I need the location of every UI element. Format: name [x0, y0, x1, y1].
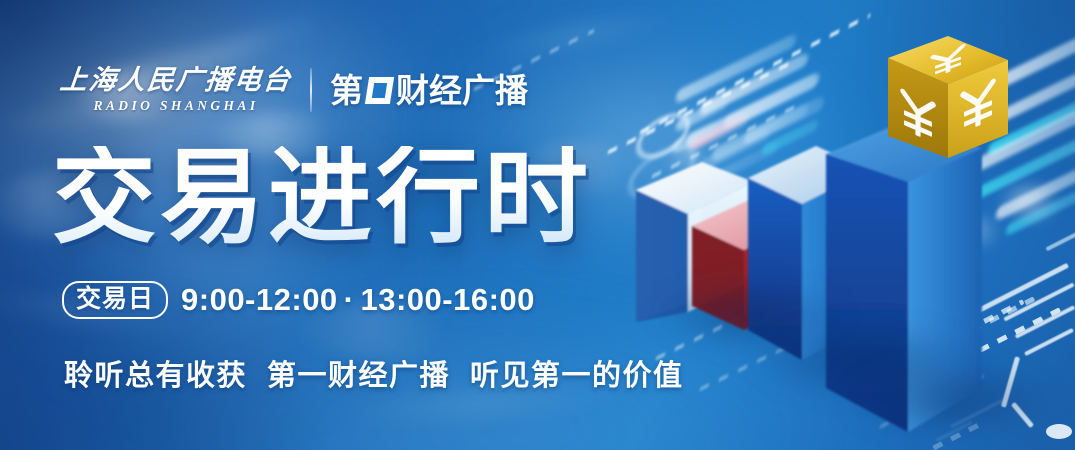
schedule-row: 交易日 9:00-12:00·13:00-16:00	[62, 281, 535, 319]
tagline-part-3: 听见第一的价值	[470, 360, 684, 392]
logo-cbn-suffix: 财经广播	[396, 74, 528, 107]
status-badge: 交易日	[62, 281, 168, 319]
session-morning: 9:00-12:00	[181, 282, 338, 317]
logo-divider	[310, 68, 312, 112]
tagline: 聆听总有收获第一财经广播听见第一的价值	[64, 352, 684, 394]
logo-radio-shanghai-cn: 上海人民广播电台	[59, 67, 294, 94]
logo-cbn-radio: 第 财经广播	[330, 74, 528, 107]
tagline-part-1: 聆听总有收获	[64, 360, 247, 392]
banner-content: 上海人民广播电台 RADIO SHANGHAI 第 财经广播 交易进行时 交易日…	[0, 0, 1075, 450]
session-separator: ·	[338, 282, 361, 317]
logo-row: 上海人民广播电台 RADIO SHANGHAI 第 财经广播	[60, 62, 528, 118]
session-afternoon: 13:00-16:00	[361, 282, 535, 317]
logo-cbn-mark-icon	[365, 77, 394, 104]
logo-radio-shanghai: 上海人民广播电台 RADIO SHANGHAI	[60, 67, 292, 113]
promo-banner: 上海人民广播电台 RADIO SHANGHAI 第 财经广播 交易进行时 交易日…	[0, 0, 1075, 450]
logo-cbn-prefix: 第	[330, 74, 363, 107]
tagline-part-2: 第一财经广播	[267, 360, 450, 392]
logo-radio-shanghai-en: RADIO SHANGHAI	[93, 99, 258, 113]
page-title: 交易进行时	[52, 146, 592, 250]
schedule-times: 9:00-12:00·13:00-16:00	[181, 282, 535, 318]
